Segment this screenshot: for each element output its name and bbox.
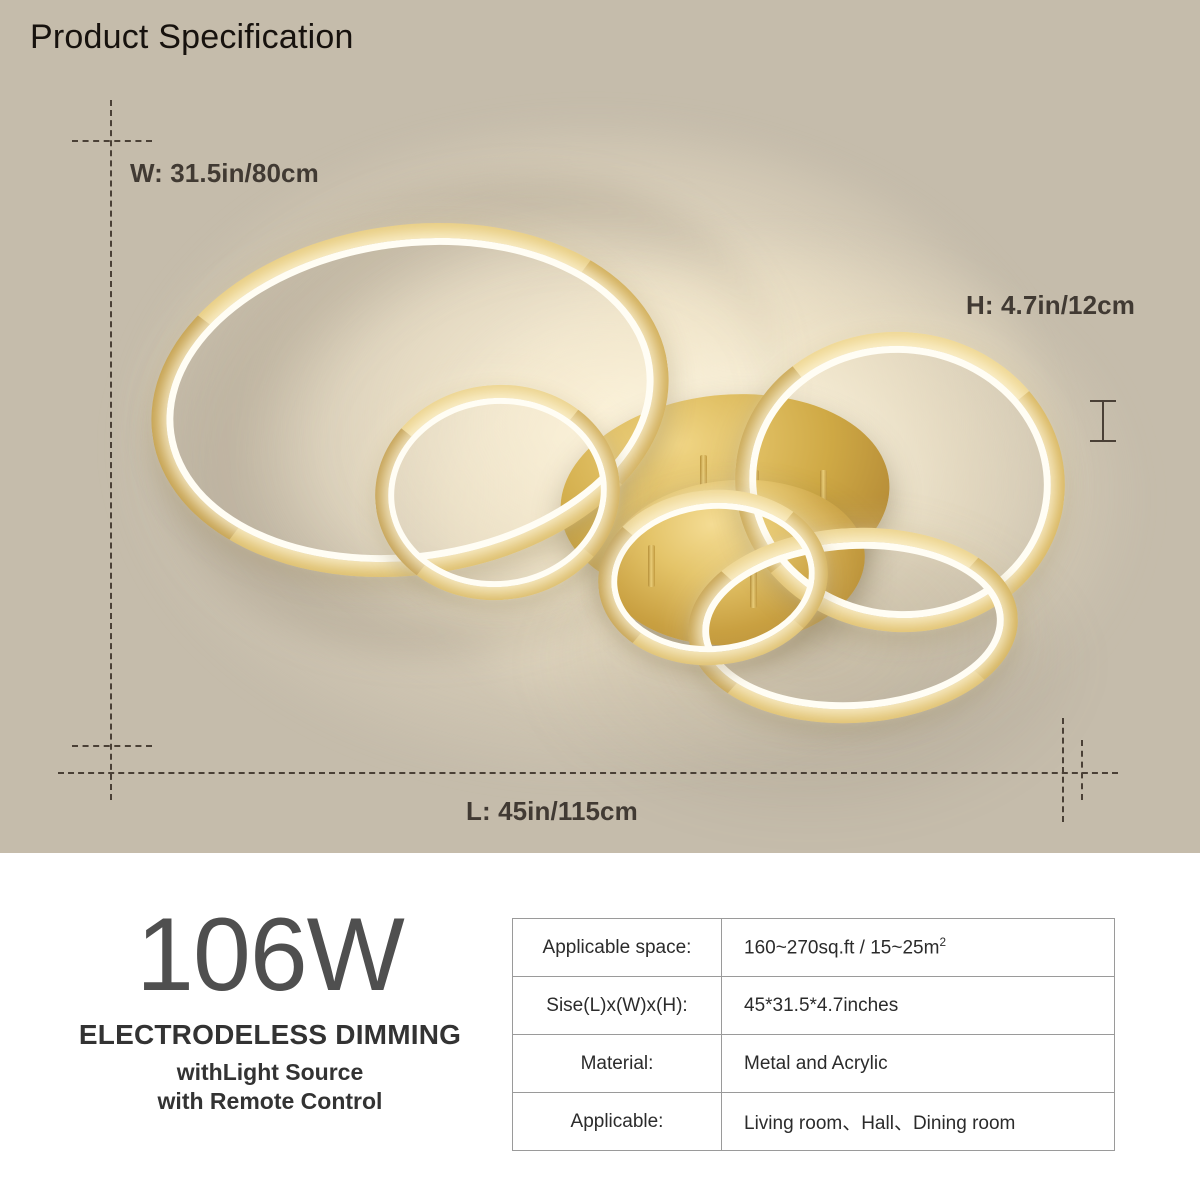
height-indicator-stem bbox=[1102, 400, 1104, 442]
table-row: Material: Metal and Acrylic bbox=[513, 1035, 1115, 1093]
width-dimension-label: W: 31.5in/80cm bbox=[130, 158, 319, 189]
table-row: Applicable space: 160~270sq.ft / 15~25m2 bbox=[513, 919, 1115, 977]
length-dimension-label: L: 45in/115cm bbox=[466, 796, 638, 827]
spec-value: Living room、Hall、Dining room bbox=[722, 1093, 1115, 1151]
spec-key: Material: bbox=[513, 1035, 722, 1093]
product-photo-panel: Product Specification W: 31.5in/80cm H: … bbox=[0, 0, 1200, 853]
spec-value: 45*31.5*4.7inches bbox=[722, 977, 1115, 1035]
guide-tick-bottom-left bbox=[72, 745, 152, 747]
remote-control-line: with Remote Control bbox=[60, 1088, 480, 1115]
height-indicator-icon bbox=[1090, 400, 1116, 442]
table-row: Sise(L)x(W)x(H): 45*31.5*4.7inches bbox=[513, 977, 1115, 1035]
table-row: Applicable: Living room、Hall、Dining room bbox=[513, 1093, 1115, 1151]
spec-key: Sise(L)x(W)x(H): bbox=[513, 977, 722, 1035]
page-title: Product Specification bbox=[30, 18, 354, 57]
light-source-line: withLight Source bbox=[60, 1059, 480, 1086]
height-indicator-cap-bottom bbox=[1090, 440, 1116, 442]
guide-line-vertical-left bbox=[110, 100, 112, 800]
spec-key: Applicable: bbox=[513, 1093, 722, 1151]
specification-panel: 106W ELECTRODELESS DIMMING withLight Sou… bbox=[0, 853, 1200, 1200]
guide-line-vertical-right-outer bbox=[1062, 718, 1064, 822]
spec-value: 160~270sq.ft / 15~25m2 bbox=[722, 919, 1115, 977]
guide-line-horizontal-bottom bbox=[58, 772, 1118, 774]
spec-value: Metal and Acrylic bbox=[722, 1035, 1115, 1093]
spec-value-superscript: 2 bbox=[939, 936, 946, 949]
wattage-value: 106W bbox=[60, 906, 480, 1005]
specification-table: Applicable space: 160~270sq.ft / 15~25m2… bbox=[512, 918, 1115, 1151]
guide-line-vertical-right-inner bbox=[1081, 740, 1083, 800]
dimming-headline: ELECTRODELESS DIMMING bbox=[60, 1019, 480, 1051]
height-dimension-label: H: 4.7in/12cm bbox=[966, 290, 1135, 321]
spec-value-text: 160~270sq.ft / 15~25m bbox=[744, 937, 939, 958]
wattage-block: 106W ELECTRODELESS DIMMING withLight Sou… bbox=[60, 906, 480, 1115]
spec-key: Applicable space: bbox=[513, 919, 722, 977]
guide-tick-top-left bbox=[72, 140, 152, 142]
